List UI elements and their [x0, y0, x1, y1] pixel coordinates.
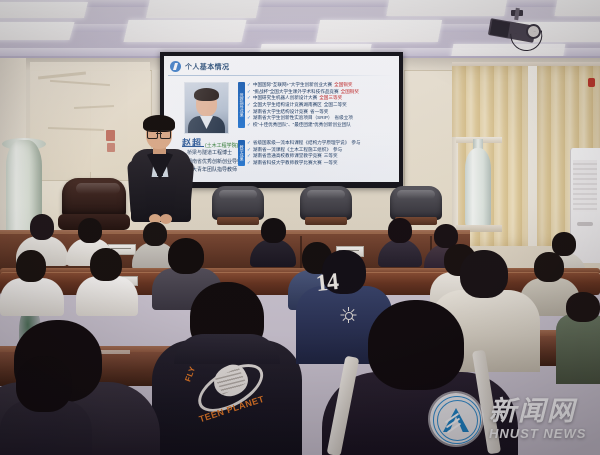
ac-logo [577, 222, 593, 226]
list-item: ✓校“十佳优秀团队”、“最佳团建”优秀创新创业团队 [247, 122, 396, 128]
lecture-hall-photo: 个人基本情况 赵超 (土木工程学院) 桥梁与隧道工程博士 湖南省优秀创新创业导师 [0, 0, 600, 455]
ceiling-light-panel [146, 0, 260, 18]
fire-alarm-light [588, 78, 595, 87]
list-item: ✓湖南省科技大学教师教学比赛大赛一等奖 [247, 160, 396, 166]
audience-member [0, 250, 64, 312]
shelf-side [452, 137, 458, 232]
projection-screen: 个人基本情况 赵超 (土木工程学院) 桥梁与隧道工程博士 湖南省优秀创新创业导师 [164, 56, 399, 182]
watermark-chinese: 新闻网 [489, 398, 586, 425]
group-tab-label: 竞赛指导成果 [238, 82, 245, 128]
slide-header-rule [168, 75, 394, 76]
slide-header: 个人基本情况 [170, 61, 229, 72]
watermark-english: HNUST NEWS [489, 426, 586, 441]
person-affiliation: (土木工程学院) [205, 142, 238, 149]
ceiling-light-panel [554, 0, 600, 16]
list-item: ✓湖南省大学生结构设计竞赛省一等奖 [247, 109, 396, 115]
hoodie-text-top: FLY [183, 365, 197, 383]
slide-group-competition: 竞赛指导成果 ✓中国国际“互联网+”大学生创新创业大赛全国铜奖 ✓“挑战杯”全国… [238, 82, 396, 128]
audience-member [556, 292, 600, 382]
flash-circle-icon [170, 61, 181, 72]
list-item: ✓湖南省一流课程《土木工程施工组织》参与 [247, 147, 396, 153]
hnust-seal-logo [430, 393, 482, 445]
meeting-chair [300, 186, 352, 230]
group-tab-label: 教学成果 [238, 140, 245, 166]
eyeglasses-icon [147, 130, 171, 137]
audience-member [76, 248, 138, 312]
list-item: ✓湖南省大学生创新性实验项目（SRIP）省级立项 [247, 115, 396, 121]
audience-member [0, 356, 92, 455]
ceiling-light-panel [0, 2, 88, 18]
list-item: ✓中国国际“互联网+”大学生创新创业大赛全国铜奖 [247, 82, 396, 88]
painting-seal [106, 130, 115, 141]
jacket-number: 14 [315, 269, 340, 298]
slide-title: 个人基本情况 [185, 62, 229, 72]
ceiling-light-panel [0, 22, 75, 40]
list-item: ✓“挑战杯”全国大学生课外学术科技作品竞赛全国铜奖 [247, 89, 396, 95]
ceiling-light-panel [123, 20, 246, 42]
list-item: ✓全国大学生结构设计竞赛湖南赛区全国二等奖 [247, 102, 396, 108]
ac-grill [573, 160, 597, 212]
news-watermark: 新闻网 HNUST NEWS [430, 388, 598, 450]
curtain-gap-light [528, 66, 537, 246]
list-item: ✓中国研究生机器人创新设计大赛全国三等奖 [247, 95, 396, 101]
list-item: ✓湖南省普通高校教师课堂教学竞赛三等奖 [247, 153, 396, 159]
painting-seal [107, 143, 115, 152]
list-item: ✓省级国家级一流本科课程《结构力学原理学说》参与 [247, 140, 396, 146]
slide-group-teaching: 教学成果 ✓省级国家级一流本科课程《结构力学原理学说》参与 ✓湖南省一流课程《土… [238, 140, 396, 166]
ceiling-projector [487, 8, 547, 46]
ceiling-light-panel [316, 20, 442, 42]
porcelain-vase-on-shelf [465, 148, 491, 228]
planet-hoodie-graphic: FLY TEEN PLANET [184, 342, 277, 423]
